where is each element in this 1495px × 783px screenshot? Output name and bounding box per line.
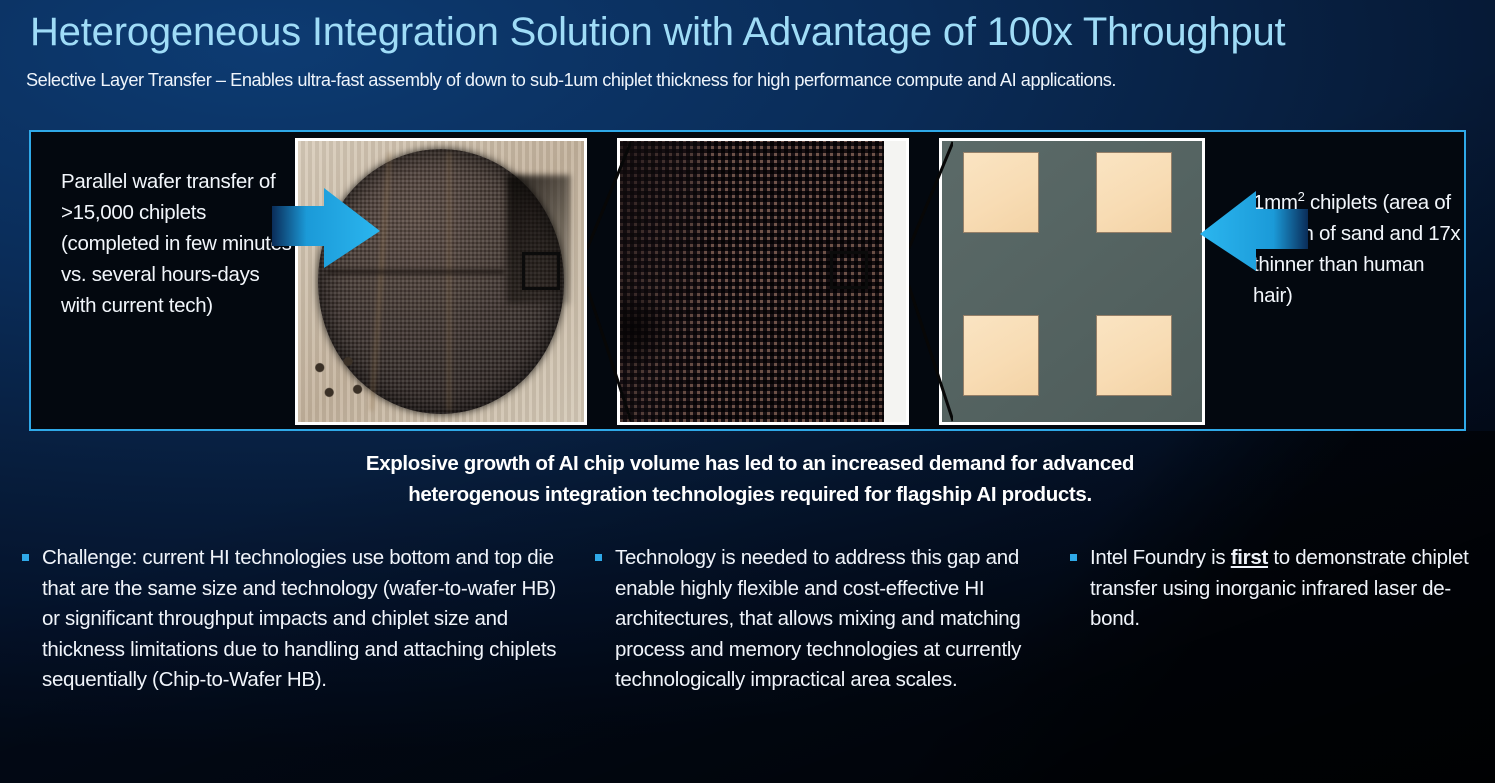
square-bullet-icon	[22, 554, 29, 561]
chiplet-square	[1097, 316, 1171, 395]
chiplet-square	[964, 153, 1038, 232]
left-caption: Parallel wafer transfer of >15,000 chipl…	[61, 166, 293, 321]
bullet-text-pre: Intel Foundry is	[1090, 546, 1231, 569]
chiplet-square	[964, 316, 1038, 395]
panel-wafer-photo	[295, 138, 587, 425]
bullet-text: Challenge: current HI technologies use b…	[42, 543, 557, 696]
array-edge-highlight	[884, 141, 906, 422]
key-statement: Explosive growth of AI chip volume has l…	[200, 448, 1300, 510]
list-item: Technology is needed to address this gap…	[595, 543, 1045, 696]
wafer-streak	[447, 152, 451, 411]
hero-figure-frame: Parallel wafer transfer of >15,000 chipl…	[29, 130, 1466, 431]
slide-canvas: Heterogeneous Integration Solution with …	[0, 0, 1495, 783]
array-shadow	[617, 138, 706, 425]
key-statement-line-2: heterogenous integration technologies re…	[200, 479, 1300, 510]
square-bullet-icon	[595, 554, 602, 561]
carrier-holes	[304, 349, 367, 411]
chiplet-square	[1097, 153, 1171, 232]
bullet-column-technology-need: Technology is needed to address this gap…	[595, 543, 1045, 696]
panel-chiplet-closeup-photo	[939, 138, 1205, 425]
page-title: Heterogeneous Integration Solution with …	[30, 10, 1470, 55]
zoom-region-box	[522, 252, 560, 290]
list-item: Challenge: current HI technologies use b…	[22, 543, 557, 696]
left-pointer-arrow-icon	[272, 184, 384, 272]
bullet-column-intel-first: Intel Foundry is first to demonstrate ch…	[1070, 543, 1480, 635]
panel-row	[295, 138, 1205, 425]
key-statement-line-1: Explosive growth of AI chip volume has l…	[200, 448, 1300, 479]
bullet-columns: Challenge: current HI technologies use b…	[0, 543, 1495, 783]
bullet-text: Technology is needed to address this gap…	[615, 543, 1045, 696]
bullet-text-emphasis: first	[1231, 546, 1268, 569]
panel-chiplet-array-photo	[617, 138, 909, 425]
array-shadow	[617, 287, 677, 371]
list-item: Intel Foundry is first to demonstrate ch…	[1070, 543, 1480, 635]
bullet-text: Intel Foundry is first to demonstrate ch…	[1090, 543, 1480, 635]
zoom-region-box	[830, 251, 868, 289]
page-subtitle: Selective Layer Transfer – Enables ultra…	[26, 70, 1476, 91]
right-pointer-arrow-icon	[1196, 187, 1308, 275]
bullet-column-challenge: Challenge: current HI technologies use b…	[22, 543, 557, 696]
square-bullet-icon	[1070, 554, 1077, 561]
